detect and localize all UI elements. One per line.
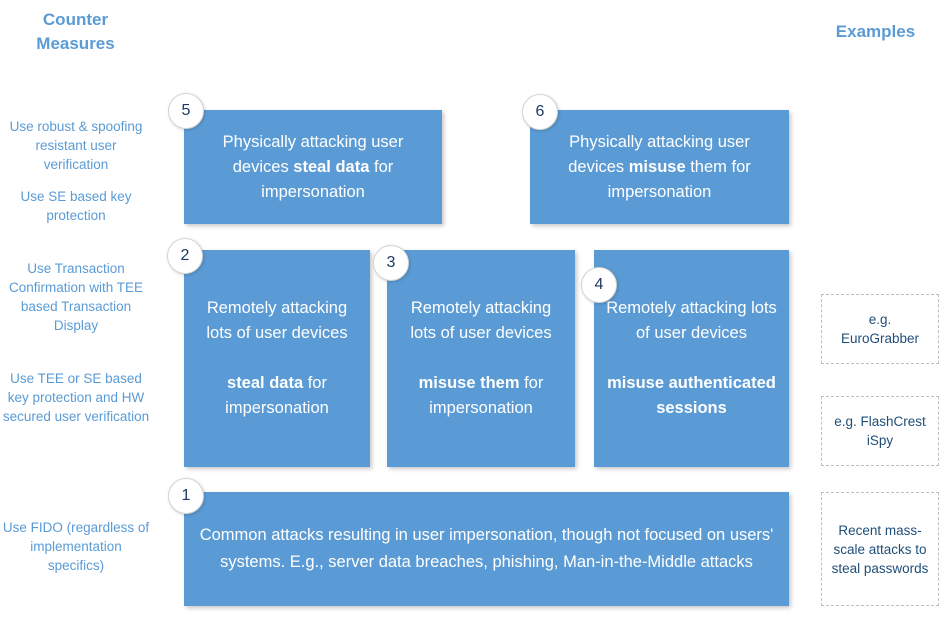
step-number-badge-2: 2 [167,238,203,274]
attack-box-6[interactable]: Physically attacking user devices misuse… [530,110,789,224]
attack-box-2[interactable]: Remotely attacking lots of user devicess… [184,250,370,467]
attack-box-text: Remotely attacking lots of user devicesm… [604,296,779,421]
counter-measure-note: Use FIDO (regardless of implementation s… [2,518,150,575]
step-number-badge-1: 1 [168,478,204,514]
examples-heading: Examples [808,20,943,44]
attack-box-text: Common attacks resulting in user imperso… [194,522,779,576]
attack-box-text: Physically attacking user devices misuse… [540,130,779,205]
attack-box-5[interactable]: Physically attacking user devices steal … [184,110,442,224]
counter-measure-note: Use SE based key protection [2,187,150,225]
step-number-badge-6: 6 [522,94,558,130]
attack-box-text: Remotely attacking lots of user devicess… [194,296,360,421]
attack-box-text: Remotely attacking lots of user devicesm… [397,296,565,421]
example-box: e.g. FlashCrest iSpy [821,396,939,466]
attack-box-4[interactable]: Remotely attacking lots of user devicesm… [594,250,789,467]
diagram-canvas: Counter Measures Examples Use robust & s… [0,0,950,620]
step-number-badge-4: 4 [581,267,617,303]
attack-box-3[interactable]: Remotely attacking lots of user devicesm… [387,250,575,467]
counter-measure-note: Use Transaction Confirmation with TEE ba… [2,259,150,335]
counter-measure-note: Use TEE or SE based key protection and H… [2,369,150,426]
example-box: e.g. EuroGrabber [821,294,939,364]
example-box: Recent mass-scale attacks to steal passw… [821,492,939,606]
attack-box-1[interactable]: Common attacks resulting in user imperso… [184,492,789,606]
attack-box-text: Physically attacking user devices steal … [194,130,432,205]
counter-measures-heading: Counter Measures [8,8,143,56]
step-number-badge-5: 5 [168,93,204,129]
counter-measure-note: Use robust & spoofing resistant user ver… [2,117,150,174]
step-number-badge-3: 3 [373,245,409,281]
